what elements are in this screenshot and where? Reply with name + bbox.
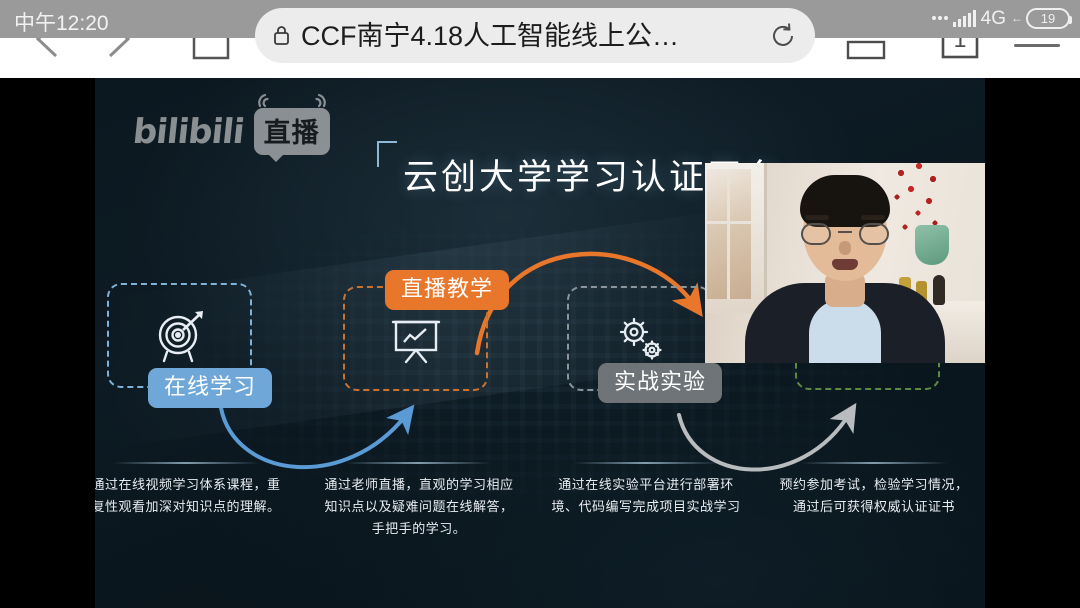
address-bar[interactable]: CCF南宁4.18人工智能线上公… (255, 8, 815, 63)
flow-label-live-teaching[interactable]: 直播教学 (385, 270, 509, 310)
caption-rule-3 (573, 462, 719, 464)
lock-icon (273, 25, 290, 46)
live-badge-label: 直播 (264, 118, 320, 148)
reload-icon (769, 22, 797, 50)
broadcast-antenna-icon (256, 93, 274, 109)
caption-rule-2 (345, 462, 491, 464)
reload-button[interactable] (769, 22, 797, 50)
suit-lapel-left (789, 309, 805, 357)
caption-live-teaching: 通过老师直播，直观的学习相应知识点以及疑难问题在线解答，手把手的学习。 (319, 474, 519, 540)
bilibili-logo-text: bilibili (131, 112, 246, 152)
shelf-object-3 (933, 275, 945, 305)
charging-arrow-icon: ← (1011, 11, 1023, 25)
flow-label-practical-experiment[interactable]: 实战实验 (598, 363, 722, 403)
arrow-1-to-2 (221, 408, 407, 467)
green-vase (915, 225, 949, 265)
signal-bars-icon (953, 10, 976, 27)
caption-practical-experiment: 通过在线实验平台进行部署环境、代码编写完成项目实战学习 (546, 474, 746, 518)
letterbox-left (0, 78, 95, 608)
presenter-shirt (809, 299, 881, 363)
address-bar-title: CCF南宁4.18人工智能线上公… (301, 21, 759, 51)
door-frame (705, 163, 767, 313)
status-clock: 中午12:20 (14, 7, 109, 37)
target-dartboard-icon (149, 305, 211, 367)
signal-dots-icon (932, 16, 948, 20)
suit-lapel-right (885, 309, 901, 357)
network-type-label: 4G (981, 9, 1006, 28)
letterbox-right (985, 78, 1080, 608)
caption-rule-1 (113, 462, 259, 464)
glass-door-pane (707, 169, 751, 299)
video-player-stage[interactable]: bilibili 直播 云创大学学习认证平台 (0, 78, 1080, 608)
gears-icon (609, 308, 671, 370)
broadcast-antenna-icon-right (310, 93, 328, 109)
presentation-board-icon (385, 308, 447, 370)
flow-label-online-learning[interactable]: 在线学习 (148, 368, 272, 408)
presenter-nose (839, 241, 851, 255)
status-indicators: 4G ← 19 (932, 4, 1070, 32)
bilibili-live-watermark: bilibili 直播 (133, 108, 330, 155)
glasses-lens-left (801, 223, 831, 245)
caption-online-learning: 通过在线视频学习体系课程，重复性观看加深对知识点的理解。 (95, 474, 286, 518)
live-badge: 直播 (254, 108, 330, 155)
presenter-mouth (832, 259, 858, 270)
caption-certification-exam: 预约参加考试，检验学习情况，通过后可获得权威认证证书 (774, 474, 974, 518)
corner-bracket-top-left (377, 141, 397, 167)
eyebrow-left (805, 215, 829, 220)
caption-rule-4 (801, 462, 947, 464)
browser-chrome: CCF南宁4.18人工智能线上公… 1 (0, 0, 1080, 78)
battery-level-label: 19 (1041, 11, 1055, 26)
glasses-lens-right (859, 223, 889, 245)
glasses-bridge (838, 231, 852, 233)
presenter-video[interactable] (705, 163, 985, 363)
battery-icon: 19 (1026, 8, 1070, 29)
eyebrow-right (861, 215, 885, 220)
